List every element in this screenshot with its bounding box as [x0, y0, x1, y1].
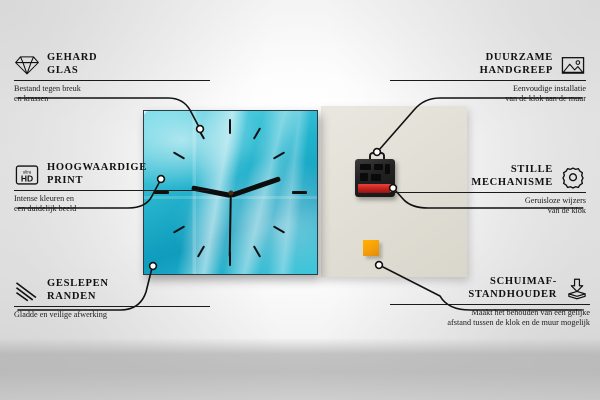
feature-title-line2: RANDEN [47, 291, 109, 304]
divider [14, 190, 210, 191]
divider [390, 192, 586, 193]
picture-frame-icon [560, 53, 586, 77]
feature-title: GESLEPEN [47, 278, 109, 291]
feature-subtitle-line2: en krassen [14, 94, 210, 104]
tick-mark [292, 191, 307, 194]
hands-hub [228, 190, 233, 195]
divider [390, 80, 586, 81]
floor-gradient [0, 338, 600, 400]
feature-subtitle-line2: van de klok [390, 206, 586, 216]
feature-subtitle-line2: van de klok aan de muur [390, 94, 586, 104]
feature-subtitle-line2: afstand tussen de klok en de muur mogeli… [390, 318, 590, 328]
divider [14, 80, 210, 81]
battery [358, 184, 392, 193]
divider [390, 304, 590, 305]
feature-subtitle: Gladde en veilige afwerking [14, 310, 210, 320]
feature-title-line2: PRINT [47, 175, 147, 188]
feature-subtitle: Eenvoudige installatie [390, 84, 586, 94]
feature-title-line2: STANDHOUDER [468, 289, 557, 302]
infographic-canvas: GEHARD GLAS Bestand tegen breuk en krass… [0, 0, 600, 400]
divider [14, 306, 210, 307]
gear-icon [560, 165, 586, 189]
feature-geslepen-randen[interactable]: GESLEPEN RANDEN Gladde en veilige afwerk… [14, 278, 210, 320]
feature-title: SCHUIMAF- [468, 276, 557, 289]
diagonal-lines-icon [14, 279, 40, 303]
feature-subtitle: Geruisloze wijzers [390, 196, 586, 206]
feature-stille-mechanisme[interactable]: STILLE MECHANISME Geruisloze wijzers van… [390, 164, 586, 215]
ultra-hd-icon-large-text: HD [21, 173, 33, 183]
feature-hoogwaardige-print[interactable]: ultra HD HOOGWAARDIGE PRINT Intense kleu… [14, 162, 210, 213]
tick-mark [229, 119, 231, 134]
diamond-icon [14, 53, 40, 77]
feature-title-line2: GLAS [47, 65, 97, 78]
feature-schuimaf-standhouder[interactable]: SCHUIMAF- STANDHOUDER Maakt het behouden… [390, 276, 590, 327]
feature-subtitle: Bestand tegen breuk [14, 84, 210, 94]
ultra-hd-icon: ultra HD [14, 163, 40, 187]
feature-title: STILLE [471, 164, 553, 177]
feature-title-line2: MECHANISME [471, 177, 553, 190]
feature-subtitle: Intense kleuren en [14, 194, 210, 204]
down-arrow-stack-icon [564, 277, 590, 301]
feature-title: DUURZAME [480, 52, 553, 65]
feature-title-line2: HANDGREEP [480, 65, 553, 78]
feature-title: HOOGWAARDIGE [47, 162, 147, 175]
feature-subtitle: Maakt het behouden van een gelijke [390, 308, 590, 318]
feature-duurzame-handgreep[interactable]: DUURZAME HANDGREEP Eenvoudige installati… [390, 52, 586, 103]
feature-gehard-glas[interactable]: GEHARD GLAS Bestand tegen breuk en krass… [14, 52, 210, 103]
foam-spacer [363, 240, 379, 256]
feature-title: GEHARD [47, 52, 97, 65]
feature-subtitle-line2: een duidelijk beeld [14, 204, 210, 214]
